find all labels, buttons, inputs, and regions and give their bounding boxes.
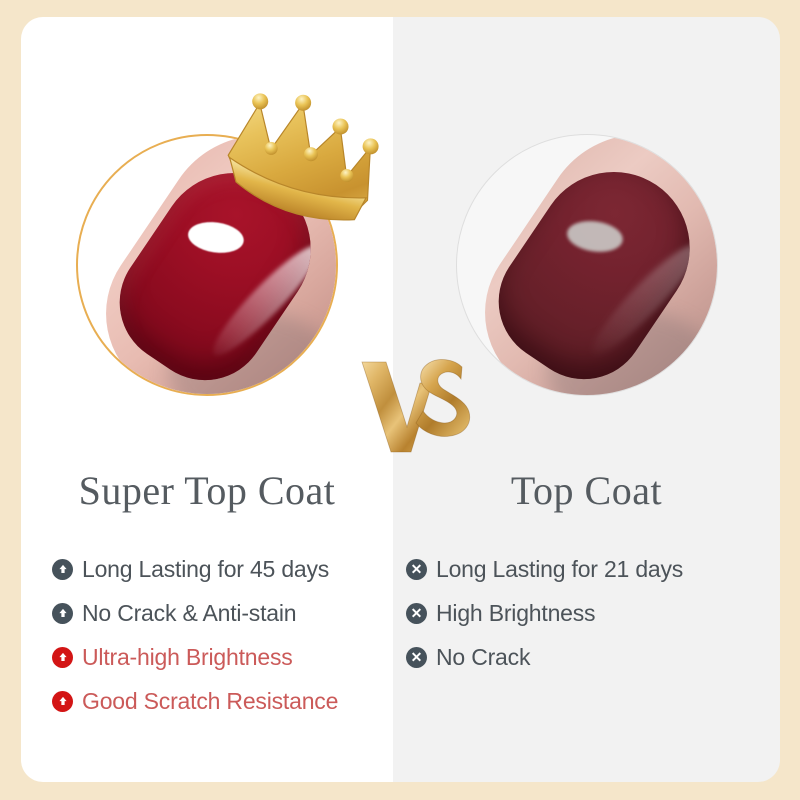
up-arrow-icon	[52, 603, 73, 624]
feature-list-super: Long Lasting for 45 days No Crack & Anti…	[52, 553, 338, 717]
comparison-card: Super Top Coat Long Lasting for 45 days …	[21, 17, 780, 782]
list-item-label: Ultra-high Brightness	[82, 644, 293, 671]
list-item: Long Lasting for 45 days	[52, 553, 338, 585]
list-item-label: No Crack & Anti-stain	[82, 600, 296, 627]
nail-highlight	[565, 218, 625, 256]
list-item-label: Good Scratch Resistance	[82, 688, 338, 715]
list-item-label: Long Lasting for 45 days	[82, 556, 329, 583]
list-item: ✕ High Brightness	[406, 597, 683, 629]
panel-super-top-coat: Super Top Coat Long Lasting for 45 days …	[21, 17, 393, 782]
list-item: Ultra-high Brightness	[52, 641, 338, 673]
list-item: Good Scratch Resistance	[52, 685, 338, 717]
list-item-label: Long Lasting for 21 days	[436, 556, 683, 583]
list-item-label: High Brightness	[436, 600, 595, 627]
list-item: ✕ Long Lasting for 21 days	[406, 553, 683, 585]
x-mark-icon: ✕	[406, 647, 427, 668]
feature-list-regular: ✕ Long Lasting for 21 days ✕ High Bright…	[406, 553, 683, 673]
page-title-left: Super Top Coat	[21, 467, 393, 514]
up-arrow-icon	[52, 691, 73, 712]
x-mark-icon: ✕	[406, 603, 427, 624]
versus-emblem	[358, 353, 476, 457]
up-arrow-icon	[52, 559, 73, 580]
nail-highlight	[186, 219, 246, 257]
list-item: ✕ No Crack	[406, 641, 683, 673]
page-title-right: Top Coat	[393, 467, 780, 514]
comparison-infographic: Super Top Coat Long Lasting for 45 days …	[0, 0, 800, 800]
list-item: No Crack & Anti-stain	[52, 597, 338, 629]
up-arrow-icon	[52, 647, 73, 668]
nail-image-regular	[456, 134, 718, 396]
list-item-label: No Crack	[436, 644, 530, 671]
nail-circle-plain-border	[456, 134, 718, 396]
x-mark-icon: ✕	[406, 559, 427, 580]
